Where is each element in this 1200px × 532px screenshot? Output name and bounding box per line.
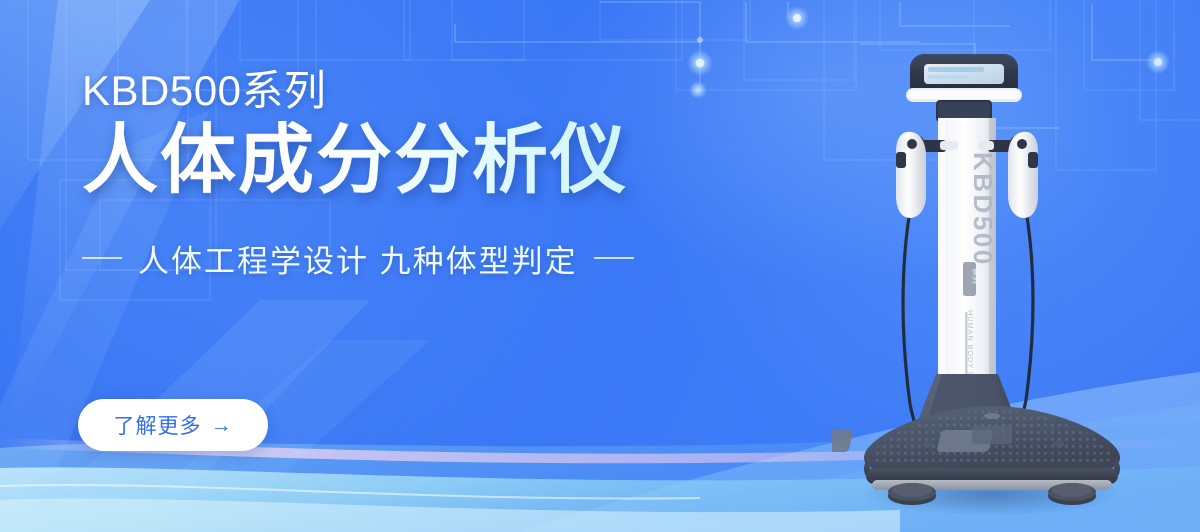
device-model-text: KBD500	[968, 152, 998, 267]
arrow-right-icon: →	[211, 415, 233, 436]
subtitle-dash-left	[82, 257, 122, 259]
subtitle-dash-right	[594, 257, 634, 259]
learn-more-label: 了解更多	[114, 410, 202, 440]
banner-kicker: KBD500系列	[82, 68, 634, 113]
banner-copy: KBD500系列 人体成分分析仪 人体工程学设计 九种体型判定	[82, 68, 634, 281]
product-hero-banner: KBD500系列 人体成分分析仪 人体工程学设计 九种体型判定 了解更多 →	[0, 0, 1200, 532]
device-badge-text: 系列	[971, 268, 981, 284]
banner-subtitle-row: 人体工程学设计 九种体型判定	[82, 236, 634, 281]
learn-more-button[interactable]: 了解更多 →	[78, 399, 268, 451]
banner-subtitle: 人体工程学设计 九种体型判定	[138, 236, 578, 281]
product-image-kbd500: KBD500 系列 HUMAN BODY COMPOSITION ANALYZE…	[832, 44, 1152, 514]
banner-headline: 人体成分分析仪	[82, 121, 634, 202]
